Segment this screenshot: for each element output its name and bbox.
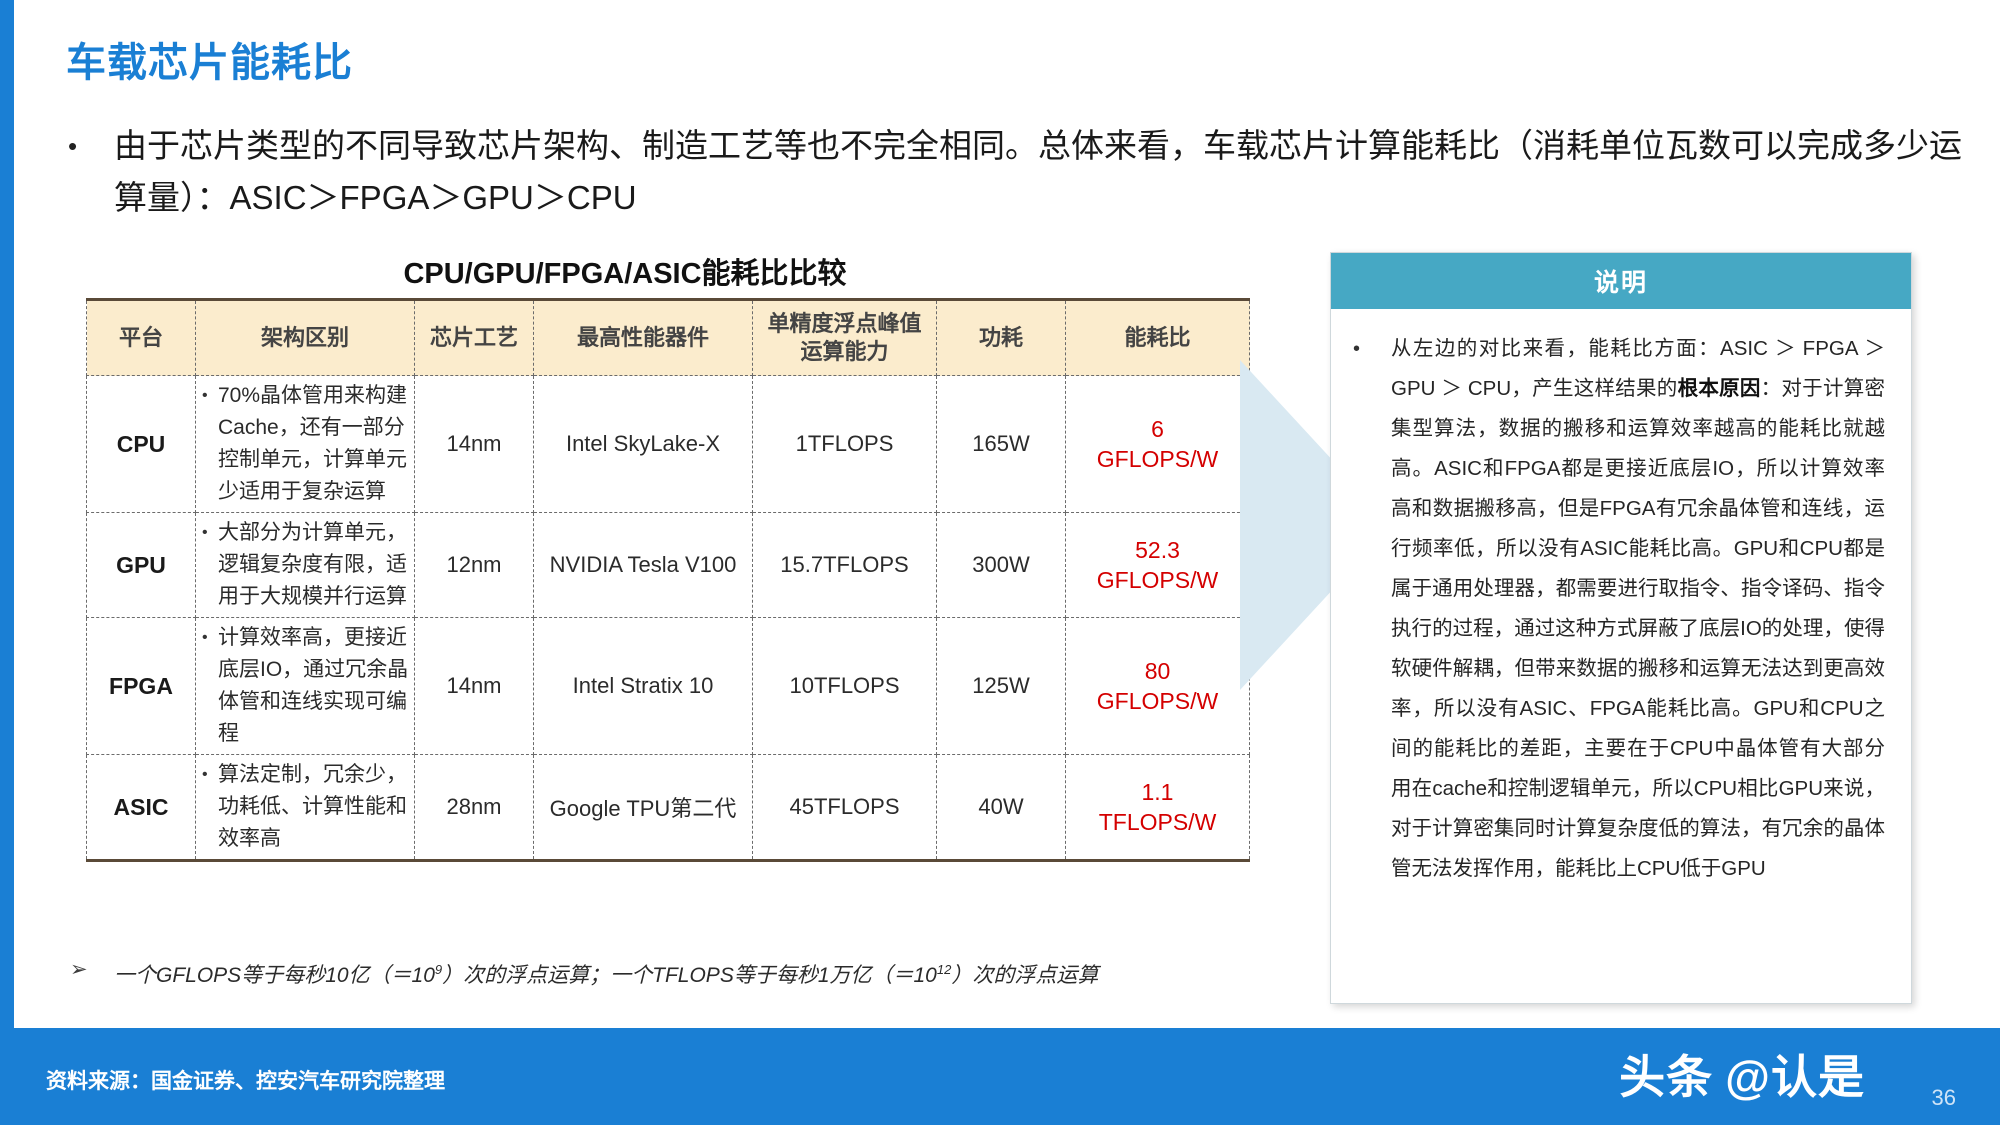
lead-bullet-text: 由于芯片类型的不同导致芯片架构、制造工艺等也不完全相同。总体来看，车载芯片计算能… (114, 120, 1962, 224)
explanation-panel-header: 说明 (1331, 253, 1911, 309)
table-caption: CPU/GPU/FPGA/ASIC能耗比比较 (70, 250, 1180, 292)
explanation-text-bold: 根本原因 (1678, 377, 1761, 400)
cell-device: Google TPU第二代 (534, 755, 753, 861)
cell-efficiency-unit: GFLOPS/W (1070, 565, 1245, 595)
cell-architecture: • 70%晶体管用来构建Cache，还有一部分控制单元，计算单元少适用于复杂运算 (196, 376, 415, 513)
col-header-efficiency: 能耗比 (1066, 300, 1250, 376)
footnote-text: 一个GFLOPS等于每秒10亿（＝109）次的浮点运算；一个TFLOPS等于每秒… (114, 955, 1098, 991)
col-header-power: 功耗 (937, 300, 1066, 376)
table-footnote: ➢ 一个GFLOPS等于每秒10亿（＝109）次的浮点运算；一个TFLOPS等于… (62, 955, 1242, 991)
comparison-table: 平台 架构区别 芯片工艺 最高性能器件 单精度浮点峰值运算能力 功耗 能耗比 C… (86, 298, 1250, 862)
cell-architecture-text: 大部分为计算单元，逻辑复杂度有限，适用于大规模并行运算 (218, 517, 410, 613)
table-row: GPU • 大部分为计算单元，逻辑复杂度有限，适用于大规模并行运算 12nm N… (87, 513, 1250, 618)
cell-peak-performance: 10TFLOPS (753, 618, 937, 755)
cell-platform: FPGA (87, 618, 196, 755)
watermark-brand: 头条 @认是 (1619, 1041, 1865, 1107)
cell-architecture: • 大部分为计算单元，逻辑复杂度有限，适用于大规模并行运算 (196, 513, 415, 618)
explanation-panel-body: • 从左边的对比来看，能耗比方面：ASIC ＞ FPGA ＞ GPU ＞ CPU… (1331, 309, 1911, 899)
col-header-architecture: 架构区别 (196, 300, 415, 376)
col-header-platform: 平台 (87, 300, 196, 376)
explanation-text: 从左边的对比来看，能耗比方面：ASIC ＞ FPGA ＞ GPU ＞ CPU，产… (1391, 329, 1885, 889)
cell-power: 300W (937, 513, 1066, 618)
brand-handle-text: @认是 (1725, 1041, 1865, 1107)
cell-architecture-text: 算法定制，冗余少，功耗低、计算性能和效率高 (218, 759, 410, 855)
cell-efficiency-value: 6 (1070, 414, 1245, 444)
source-text: 资料来源：国金证券、控安汽车研究院整理 (46, 1065, 445, 1095)
table-row: ASIC • 算法定制，冗余少，功耗低、计算性能和效率高 28nm Google… (87, 755, 1250, 861)
footnote-part-3: ）次的浮点运算 (951, 964, 1098, 987)
bullet-icon: • (202, 759, 218, 791)
bullet-icon: • (202, 380, 218, 412)
cell-peak-performance: 1TFLOPS (753, 376, 937, 513)
cell-process: 28nm (415, 755, 534, 861)
cell-efficiency-value: 52.3 (1070, 535, 1245, 565)
bullet-icon: • (202, 622, 218, 654)
cell-efficiency: 80 GFLOPS/W (1066, 618, 1250, 755)
cell-efficiency-unit: TFLOPS/W (1070, 807, 1245, 837)
cell-power: 125W (937, 618, 1066, 755)
col-header-peak-performance: 单精度浮点峰值运算能力 (753, 300, 937, 376)
cell-peak-performance: 45TFLOPS (753, 755, 937, 861)
explanation-text-part-2: ：对于计算密集型算法，数据的搬移和运算效率越高的能耗比就越高。ASIC和FPGA… (1391, 377, 1885, 880)
cell-architecture-text: 70%晶体管用来构建Cache，还有一部分控制单元，计算单元少适用于复杂运算 (218, 380, 410, 508)
cell-device: Intel Stratix 10 (534, 618, 753, 755)
table-header-row: 平台 架构区别 芯片工艺 最高性能器件 单精度浮点峰值运算能力 功耗 能耗比 (87, 300, 1250, 376)
footnote-exponent-2: 12 (937, 962, 951, 977)
cell-efficiency: 6 GFLOPS/W (1066, 376, 1250, 513)
cell-device: Intel SkyLake-X (534, 376, 753, 513)
cell-peak-performance: 15.7TFLOPS (753, 513, 937, 618)
page-title: 车载芯片能耗比 (66, 30, 353, 88)
cell-architecture: • 算法定制，冗余少，功耗低、计算性能和效率高 (196, 755, 415, 861)
col-header-process: 芯片工艺 (415, 300, 534, 376)
explanation-panel: 说明 • 从左边的对比来看，能耗比方面：ASIC ＞ FPGA ＞ GPU ＞ … (1330, 252, 1912, 1004)
cell-architecture: • 计算效率高，更接近底层IO，通过冗余晶体管和连线实现可编程 (196, 618, 415, 755)
cell-efficiency: 52.3 GFLOPS/W (1066, 513, 1250, 618)
cell-architecture-text: 计算效率高，更接近底层IO，通过冗余晶体管和连线实现可编程 (218, 622, 410, 750)
left-accent-rail (0, 0, 14, 1125)
footnote-part-1: 一个GFLOPS等于每秒10亿（＝10 (114, 964, 435, 987)
cell-platform: ASIC (87, 755, 196, 861)
cell-process: 12nm (415, 513, 534, 618)
cell-platform: GPU (87, 513, 196, 618)
cell-efficiency-value: 80 (1070, 656, 1245, 686)
table-row: FPGA • 计算效率高，更接近底层IO，通过冗余晶体管和连线实现可编程 14n… (87, 618, 1250, 755)
bullet-icon: • (202, 517, 218, 549)
cell-device: NVIDIA Tesla V100 (534, 513, 753, 618)
cell-process: 14nm (415, 376, 534, 513)
cell-power: 40W (937, 755, 1066, 861)
table-row: CPU • 70%晶体管用来构建Cache，还有一部分控制单元，计算单元少适用于… (87, 376, 1250, 513)
bullet-icon: • (1347, 329, 1391, 369)
cell-power: 165W (937, 376, 1066, 513)
cell-platform: CPU (87, 376, 196, 513)
brand-logo-text: 头条 (1619, 1041, 1713, 1107)
arrow-bullet-icon: ➢ (62, 955, 114, 985)
bullet-icon: • (62, 120, 114, 172)
lead-bullet-paragraph: • 由于芯片类型的不同导致芯片架构、制造工艺等也不完全相同。总体来看，车载芯片计… (62, 120, 1962, 224)
cell-efficiency-unit: GFLOPS/W (1070, 686, 1245, 716)
page-number: 36 (1932, 1085, 1956, 1111)
col-header-device: 最高性能器件 (534, 300, 753, 376)
footnote-part-2: ）次的浮点运算；一个TFLOPS等于每秒1万亿（＝10 (442, 964, 937, 987)
cell-efficiency-value: 1.1 (1070, 777, 1245, 807)
cell-efficiency-unit: GFLOPS/W (1070, 444, 1245, 474)
cell-efficiency: 1.1 TFLOPS/W (1066, 755, 1250, 861)
cell-process: 14nm (415, 618, 534, 755)
